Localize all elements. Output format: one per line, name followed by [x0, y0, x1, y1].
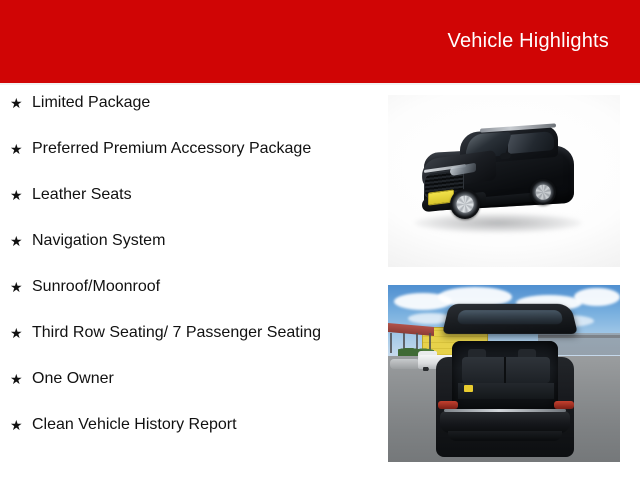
- list-item: ★ Preferred Premium Accessory Package: [0, 138, 375, 160]
- highlight-label: Third Row Seating/ 7 Passenger Seating: [32, 322, 375, 344]
- highlight-label: Sunroof/Moonroof: [32, 276, 375, 298]
- star-icon: ★: [10, 92, 32, 114]
- third-row-seatback: [462, 357, 550, 383]
- taillight-left: [438, 401, 458, 409]
- header-divider: [0, 83, 640, 85]
- star-icon: ★: [10, 138, 32, 160]
- background-overhead-bar: [538, 335, 620, 338]
- highlight-label: Limited Package: [32, 92, 375, 114]
- list-item: ★ Sunroof/Moonroof: [0, 276, 375, 298]
- rear-bumper-chrome-trim: [444, 409, 566, 412]
- list-item: ★ Navigation System: [0, 230, 375, 252]
- front-wheel-rim: [457, 196, 474, 213]
- highlight-label: One Owner: [32, 368, 375, 390]
- cloud: [574, 288, 620, 306]
- taillight-right: [554, 401, 574, 409]
- highlight-label: Preferred Premium Accessory Package: [32, 138, 375, 160]
- background-car: [390, 359, 420, 369]
- vehicle-photo-exterior[interactable]: [388, 95, 620, 267]
- list-item: ★ Third Row Seating/ 7 Passenger Seating: [0, 322, 375, 344]
- vehicle-photo-cargo[interactable]: [388, 285, 620, 462]
- page-title: Vehicle Highlights: [448, 29, 609, 53]
- list-item: ★ Leather Seats: [0, 184, 375, 206]
- vehicle-highlights-list: ★ Limited Package ★ Preferred Premium Ac…: [0, 92, 375, 460]
- star-icon: ★: [10, 368, 32, 390]
- seat-split-divider: [504, 357, 506, 383]
- star-icon: ★: [10, 184, 32, 206]
- cargo-photo-artwork: [388, 285, 620, 462]
- vehicle-ground-shadow: [414, 213, 582, 233]
- list-item: ★ Clean Vehicle History Report: [0, 414, 375, 436]
- list-item: ★ One Owner: [0, 368, 375, 390]
- cargo-yellow-tag: [464, 385, 473, 392]
- highlight-label: Clean Vehicle History Report: [32, 414, 375, 436]
- liftgate-glass: [457, 310, 564, 324]
- vehicle-highlights-page: Vehicle Highlights ★ Limited Package ★ P…: [0, 0, 640, 480]
- star-icon: ★: [10, 322, 32, 344]
- highlight-label: Navigation System: [32, 230, 375, 252]
- front-wheel: [450, 189, 480, 219]
- star-icon: ★: [10, 230, 32, 252]
- rear-wheel: [530, 179, 556, 205]
- side-window: [508, 131, 554, 154]
- rear-bumper: [440, 411, 570, 433]
- star-icon: ★: [10, 414, 32, 436]
- list-item: ★ Limited Package: [0, 92, 375, 114]
- exterior-photo-artwork: [388, 95, 620, 267]
- rear-lower-valance: [448, 431, 562, 441]
- rear-wheel-rim: [536, 185, 551, 200]
- highlight-label: Leather Seats: [32, 184, 375, 206]
- header-banner: Vehicle Highlights: [0, 0, 640, 83]
- star-icon: ★: [10, 276, 32, 298]
